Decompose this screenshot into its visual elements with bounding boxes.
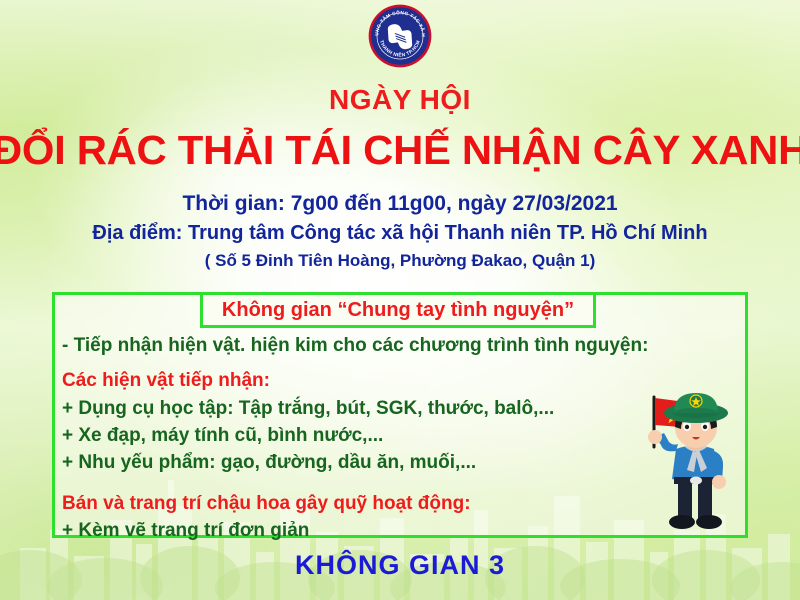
panel-title: Không gian “Chung tay tình nguyện” — [222, 300, 574, 320]
mascot-hand-left — [648, 430, 662, 444]
panel-item: + Dụng cụ học tập: Tập trắng, bút, SGK, … — [62, 399, 642, 418]
mascot-belt-buckle — [690, 477, 702, 485]
mascot-pupil-left — [685, 425, 689, 429]
event-kicker: NGÀY HỘI — [0, 86, 800, 114]
panel-item: + Nhu yếu phẩm: gạo, đường, dầu ăn, muối… — [62, 453, 642, 472]
space-label: KHÔNG GIAN 3 — [0, 552, 800, 579]
event-time: Thời gian: 7g00 đến 11g00, ngày 27/03/20… — [0, 192, 800, 216]
panel-sell-heading: Bán và trang trí chậu hoa gây quỹ hoạt đ… — [62, 494, 642, 513]
panel-spacer — [62, 480, 642, 494]
panel-sell-note: + Kèm vẽ trang trí đơn giản — [62, 521, 642, 540]
event-headline: ĐỔI RÁC THẢI TÁI CHẾ NHẬN CÂY XANH — [0, 130, 800, 171]
mascot-hat — [664, 393, 728, 423]
poster-canvas: TRUNG TÂM CÔNG TÁC XÃ HỘI THANH NIÊN TP.… — [0, 0, 800, 600]
mascot-hand-right — [712, 475, 726, 489]
mascot-shoe-left — [669, 515, 695, 529]
mascot-pupil-right — [703, 425, 707, 429]
panel-title-box: Không gian “Chung tay tình nguyện” — [200, 292, 596, 328]
mascot-shoe-right — [696, 515, 722, 529]
panel-intro-line: - Tiếp nhận hiện vật. hiện kim cho các c… — [62, 336, 642, 355]
mascot-leg-right — [698, 483, 712, 519]
organization-logo: TRUNG TÂM CÔNG TÁC XÃ HỘI THANH NIÊN TP.… — [368, 4, 432, 68]
youth-volunteer-mascot — [630, 385, 760, 535]
panel-items-heading: Các hiện vật tiếp nhận: — [62, 371, 642, 390]
event-place: Địa điểm: Trung tâm Công tác xã hội Than… — [0, 222, 800, 245]
panel-body: - Tiếp nhận hiện vật. hiện kim cho các c… — [62, 336, 642, 540]
panel-item: + Xe đạp, máy tính cũ, bình nước,... — [62, 426, 642, 445]
event-address: ( Số 5 Đinh Tiên Hoàng, Phường Đakao, Qu… — [0, 251, 800, 271]
logo-svg: TRUNG TÂM CÔNG TÁC XÃ HỘI THANH NIÊN TP.… — [368, 4, 432, 68]
mascot-leg-left — [678, 483, 692, 519]
